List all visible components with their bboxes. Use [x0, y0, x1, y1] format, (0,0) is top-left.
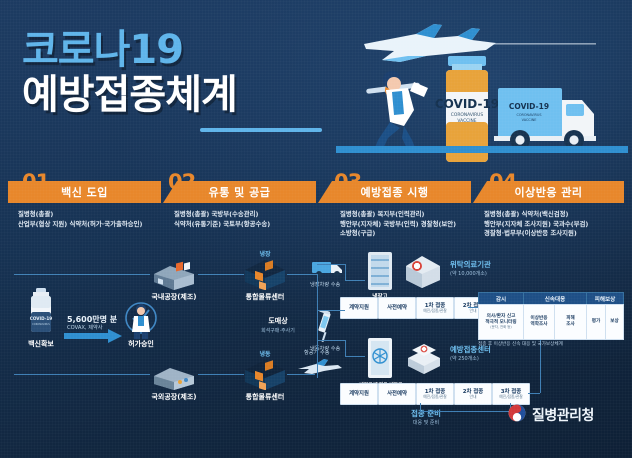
- node-label-approval: 허가승인: [116, 340, 166, 349]
- procedure-box: 2차 접종 안내: [454, 383, 492, 405]
- connector: [198, 374, 244, 375]
- doctor-approval-icon: [124, 300, 158, 344]
- connector: [420, 411, 510, 412]
- procedure-box: 3차 접종 예진/접종/관찰: [492, 383, 530, 405]
- panel-cell: 보상: [605, 304, 624, 340]
- domestic-factory-icon: [150, 258, 198, 294]
- panel-cell: 평가: [586, 304, 606, 340]
- procedure-box: 1차 접종 예진/접종/관찰: [416, 297, 454, 319]
- hero-ground-line: [336, 146, 628, 153]
- node-count-site-2: (약 250개소): [450, 355, 512, 362]
- svg-text:COVID-19: COVID-19: [30, 316, 53, 321]
- step-desc-01: 질병청(총괄) 산업부(협상 지원) 식약처(허가·국가출하승인): [18, 210, 142, 229]
- step-number-02: 02: [168, 172, 195, 193]
- node-label-overseas-factory: 국외공장(제조): [141, 393, 207, 402]
- temp-label-logistics-2: 냉동: [243, 350, 287, 359]
- step-label-02: 유통 및 공급: [209, 184, 271, 200]
- vial-sub-1: CORONAVIRUS: [451, 112, 484, 118]
- step-header-band: 백신 도입 유통 및 공급 예방접종 시행 이상반응 관리: [8, 181, 624, 203]
- procedure-box: 사전예약: [378, 297, 416, 319]
- connector: [14, 274, 150, 275]
- procedure-box: 계약지원: [340, 297, 378, 319]
- connector: [345, 280, 365, 281]
- node-label-vaccine-secure: 백신확보: [16, 340, 66, 349]
- delivery-truck-icon: COVID-19 CORONAVIRUS VACCINE: [494, 88, 596, 150]
- doctor-running-icon: [366, 71, 428, 151]
- page-title: 코로나19 예방접종체계: [22, 28, 352, 118]
- truck-sub-2: VACCINE: [522, 118, 537, 122]
- connector: [14, 374, 150, 375]
- procedure-sub: 안내: [470, 395, 477, 400]
- procedure-box: 1차 접종 예진/접종/관찰: [416, 383, 454, 405]
- step-desc-03-line-3: 소방청(구급): [340, 229, 456, 239]
- procedure-sub: 예진/접종/관찰: [423, 309, 447, 314]
- adverse-event-panel: 감시 신속대응 피해보상 의사/환자 신고 적극적 모니터링 (문자, 전화 등…: [478, 292, 622, 354]
- panel-cell: 의사/환자 신고 적극적 모니터링 (문자, 전화 등): [478, 304, 524, 340]
- node-count-site-1: (약 10,000개소): [450, 270, 512, 277]
- edge-label-cold-truck: 냉장차량 수송: [310, 281, 340, 288]
- panel-cell-title: 이상반응 역학조사: [531, 316, 548, 327]
- node-label-logistics-2: 통합물류센터: [235, 393, 295, 402]
- warehouse-icon: [243, 358, 287, 394]
- step-label-04: 이상반응 관리: [514, 184, 582, 200]
- step-desc-01-line-1: 질병청(총괄): [18, 210, 142, 220]
- connector: [528, 393, 540, 394]
- deep-freezer-icon: [366, 338, 394, 384]
- connector: [317, 274, 318, 378]
- edge-label-freezer-truck: 냉동차량 수송: [310, 345, 340, 352]
- refrigerator-icon: [366, 252, 394, 296]
- panel-cell-title: 평가: [592, 319, 600, 325]
- syringe-icon: [312, 310, 336, 350]
- prepare-sub: 대응 및 준비: [394, 419, 458, 426]
- svg-text:CORONAVIRUS: CORONAVIRUS: [32, 323, 50, 326]
- connector: [420, 403, 421, 411]
- step-desc-02-line-1: 질병청(총괄) 국방부(수송관리): [174, 210, 270, 220]
- taegeuk-icon: [508, 404, 526, 426]
- step-desc-04: 질병청(총괄) 식약처(백신검정) 행안부(지자체 조사지원) 국과수(부검) …: [484, 210, 588, 239]
- procedure-title: 계약지원: [349, 305, 369, 311]
- infographic-poster: 코로나19 예방접종체계: [0, 0, 632, 458]
- title-line-2: 예방접종체계: [22, 72, 352, 118]
- vial-brand-text: COVID-19: [435, 97, 499, 111]
- panel-cell-title: 보상: [610, 319, 618, 325]
- node-label-wholesaler: 도매상: [256, 317, 300, 326]
- connector: [345, 340, 346, 356]
- panel-footnote: 접종 후 이상반응 신속 대응 및 국가보상체계: [478, 341, 563, 347]
- procedure-sub: 예진/접종/관찰: [499, 395, 523, 400]
- connector: [317, 310, 345, 311]
- procedure-box: 사전예약: [378, 383, 416, 405]
- panel-cell: 피해 조사: [554, 304, 587, 340]
- connector: [345, 356, 365, 357]
- procedure-title: 사전예약: [387, 305, 407, 311]
- agency-logo: 질병관리청: [508, 404, 594, 426]
- node-label-logistics-1: 통합물류센터: [235, 293, 295, 302]
- step-label-01: 백신 도입: [61, 184, 108, 200]
- supply-arrow: [64, 328, 122, 347]
- warehouse-icon: [243, 258, 287, 294]
- step-number-01: 01: [22, 172, 49, 193]
- step-desc-02: 질병청(총괄) 국방부(수송관리) 식약처(유통기준) 국토부(항공수송): [174, 210, 270, 229]
- airplane-icon: [296, 358, 344, 380]
- overseas-factory-icon: [150, 358, 198, 394]
- connector: [287, 374, 315, 375]
- panel-cell: 이상반응 역학조사: [523, 304, 555, 340]
- vial-sub-2: VACCINE: [457, 118, 476, 124]
- panel-cell-title: 피해 조사: [566, 316, 574, 327]
- step-number-04: 04: [489, 172, 516, 193]
- step-desc-03-line-2: 행안부(지자체) 국방부(인력) 경찰청(보안): [340, 220, 456, 230]
- vaccination-center-icon: [400, 340, 446, 382]
- step-desc-03-line-1: 질병청(총괄) 복지부(인력관리): [340, 210, 456, 220]
- procedure-box: 계약지원: [340, 383, 378, 405]
- node-label-site-1: 위탁의료기관: [450, 260, 512, 269]
- step-number-03: 03: [334, 172, 361, 193]
- procedure-sub: 예진/접종/관찰: [423, 395, 447, 400]
- agency-name: 질병관리청: [532, 405, 594, 425]
- step-desc-03: 질병청(총괄) 복지부(인력관리) 행안부(지자체) 국방부(인력) 경찰청(보…: [340, 210, 456, 239]
- panel-cell-sub: (문자, 전화 등): [490, 325, 511, 329]
- procedure-title: 계약지원: [349, 391, 369, 397]
- temp-label-logistics-1: 냉장: [243, 250, 287, 259]
- connector: [317, 340, 345, 341]
- node-sub-wholesaler: 희석구매·주사기: [246, 327, 310, 334]
- step-desc-04-line-2: 행안부(지자체 조사지원) 국과수(부검): [484, 220, 588, 230]
- vaccine-vial-icon: COVID-19 CORONAVIRUS: [26, 288, 56, 338]
- truck-brand-text: COVID-19: [509, 102, 549, 111]
- procedure-title: 사전예약: [387, 391, 407, 397]
- connector: [345, 264, 346, 280]
- clinic-building-icon: [400, 252, 446, 294]
- step-label-03: 예방접종 시행: [360, 184, 428, 200]
- connector: [287, 274, 317, 275]
- connector: [317, 264, 345, 265]
- step-desc-01-line-2: 산업부(협상 지원) 식약처(허가·국가출하승인): [18, 220, 142, 230]
- truck-sub-1: CORONAVIRUS: [516, 113, 541, 117]
- procedure-sub: 안내: [470, 309, 477, 314]
- panel-cell-title: 의사/환자 신고 적극적 모니터링: [485, 314, 516, 325]
- step-desc-02-line-2: 식약처(유통기준) 국토부(항공수송): [174, 220, 270, 230]
- title-line-1: 코로나19: [22, 28, 352, 72]
- title-underline: [200, 128, 322, 132]
- step-desc-04-line-3: 경찰청·법무부(이상반응 조사지원): [484, 229, 588, 239]
- connector: [198, 274, 244, 275]
- node-label-domestic-factory: 국내공장(제조): [141, 293, 207, 302]
- step-desc-04-line-1: 질병청(총괄) 식약처(백신검정): [484, 210, 588, 220]
